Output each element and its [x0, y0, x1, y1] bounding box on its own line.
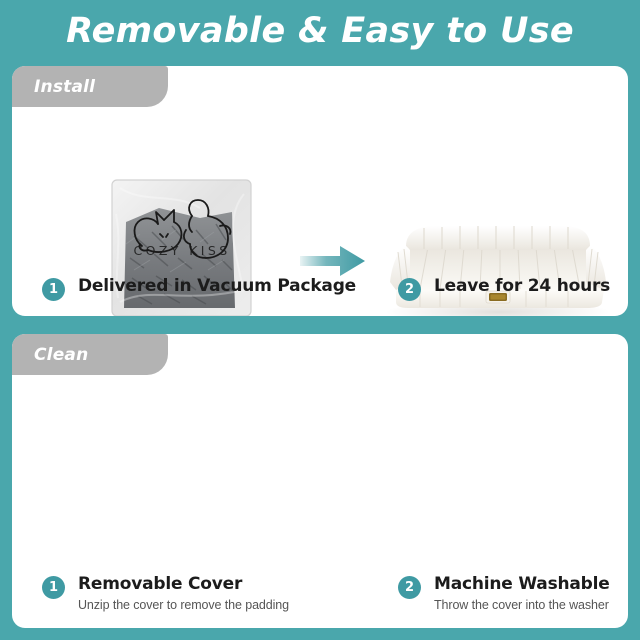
step-clean-1: 1 Removable Cover Unzip the cover to rem…	[42, 574, 289, 612]
infographic-poster: Removable & Easy to Use	[0, 0, 640, 640]
page-title: Removable & Easy to Use	[66, 11, 574, 51]
step-install-1: 1 Delivered in Vacuum Package	[42, 276, 356, 301]
step-subtitle: Throw the cover into the washer	[434, 598, 610, 612]
step-badge-number: 2	[398, 576, 421, 599]
poster-header: Removable & Easy to Use	[0, 0, 640, 62]
section-tab-clean: Clean	[12, 334, 168, 375]
step-badge-number: 1	[42, 576, 65, 599]
step-badge-number: 1	[42, 278, 65, 301]
section-tab-clean-label: Clean	[34, 345, 88, 365]
section-tab-install: Install	[12, 66, 168, 107]
step-title: Leave for 24 hours	[434, 276, 610, 297]
step-title: Removable Cover	[78, 574, 289, 595]
step-subtitle: Unzip the cover to remove the padding	[78, 598, 289, 612]
step-install-2: 2 Leave for 24 hours	[398, 276, 610, 301]
svg-text:COZY KISS: COZY KISS	[133, 243, 230, 258]
step-badge-number: 2	[398, 278, 421, 301]
section-tab-install-label: Install	[34, 77, 95, 97]
step-clean-2: 2 Machine Washable Throw the cover into …	[398, 574, 610, 612]
step-title: Delivered in Vacuum Package	[78, 276, 356, 297]
arrow-right-icon	[300, 244, 366, 278]
step-title: Machine Washable	[434, 574, 610, 595]
